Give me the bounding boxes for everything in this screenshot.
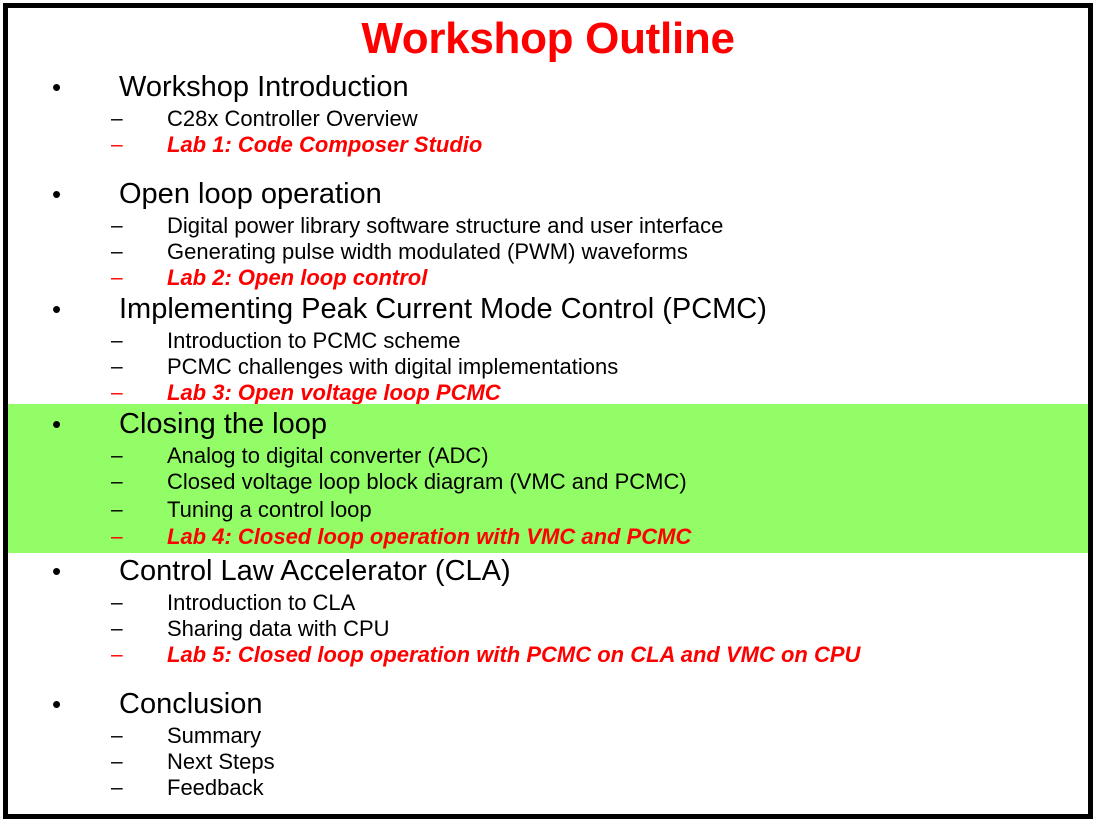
dash-icon: – xyxy=(111,239,123,265)
page-title: Workshop Outline xyxy=(8,13,1088,65)
dash-icon: – xyxy=(111,775,123,801)
dash-icon: – xyxy=(111,106,123,132)
outline-item: –Digital power library software structur… xyxy=(8,213,1088,239)
outline-lab-item-label: Lab 4: Closed loop operation with VMC an… xyxy=(167,524,691,550)
dash-icon: – xyxy=(111,616,123,642)
outline-lab-item: –Lab 5: Closed loop operation with PCMC … xyxy=(8,642,1088,668)
outline-item: –Introduction to CLA xyxy=(8,590,1088,616)
bullet-icon: • xyxy=(52,176,61,213)
dash-icon: – xyxy=(111,590,123,616)
outline-item: –Tuning a control loop xyxy=(8,495,1088,524)
outline-item-label: Introduction to CLA xyxy=(167,590,355,616)
outline-item: –Generating pulse width modulated (PWM) … xyxy=(8,239,1088,265)
outline-section-heading-label: Open loop operation xyxy=(119,176,382,213)
outline-section-heading: •Closing the loop xyxy=(8,406,1088,443)
outline-lab-item-label: Lab 1: Code Composer Studio xyxy=(167,132,482,158)
outline-section: •Control Law Accelerator (CLA)–Introduct… xyxy=(8,553,1088,668)
outline-item-label: PCMC challenges with digital implementat… xyxy=(167,354,618,380)
outline-item: –Closed voltage loop block diagram (VMC … xyxy=(8,469,1088,495)
outline-item: –Feedback xyxy=(8,775,1088,801)
dash-icon: – xyxy=(111,328,123,354)
bullet-icon: • xyxy=(52,553,61,590)
bullet-icon: • xyxy=(52,291,61,328)
outline-section-heading: •Open loop operation xyxy=(8,176,1088,213)
dash-icon: – xyxy=(111,265,123,291)
dash-icon: – xyxy=(111,469,123,495)
outline-section-heading: •Conclusion xyxy=(8,686,1088,723)
dash-icon: – xyxy=(111,642,123,668)
outline-section: •Conclusion–Summary–Next Steps–Feedback xyxy=(8,686,1088,801)
dash-icon: – xyxy=(111,380,123,406)
outline-item-label: Tuning a control loop xyxy=(167,495,372,524)
outline-lab-item-label: Lab 2: Open loop control xyxy=(167,265,427,291)
slide-frame: Workshop Outline •Workshop Introduction–… xyxy=(3,3,1093,819)
outline-section-heading: •Implementing Peak Current Mode Control … xyxy=(8,291,1088,328)
outline-item-label: Introduction to PCMC scheme xyxy=(167,328,460,354)
dash-icon: – xyxy=(111,443,123,469)
outline-item: –Introduction to PCMC scheme xyxy=(8,328,1088,354)
outline-section: •Open loop operation–Digital power libra… xyxy=(8,176,1088,291)
outline-item-label: Closed voltage loop block diagram (VMC a… xyxy=(167,469,687,495)
outline-section-heading-label: Conclusion xyxy=(119,686,262,723)
outline-section-heading: •Control Law Accelerator (CLA) xyxy=(8,553,1088,590)
dash-icon: – xyxy=(111,749,123,775)
dash-icon: – xyxy=(111,354,123,380)
outline-item: –Analog to digital converter (ADC) xyxy=(8,443,1088,469)
outline-item-label: Generating pulse width modulated (PWM) w… xyxy=(167,239,688,265)
outline-lab-item-label: Lab 5: Closed loop operation with PCMC o… xyxy=(167,642,860,668)
outline-section: •Workshop Introduction–C28x Controller O… xyxy=(8,69,1088,158)
outline-item-label: Summary xyxy=(167,723,261,749)
dash-icon: – xyxy=(111,132,123,158)
dash-icon: – xyxy=(111,723,123,749)
outline-item-label: Next Steps xyxy=(167,749,275,775)
outline-item: –Summary xyxy=(8,723,1088,749)
outline-section-heading-label: Workshop Introduction xyxy=(119,69,409,106)
outline-section-heading-label: Control Law Accelerator (CLA) xyxy=(119,553,511,590)
outline-lab-item: –Lab 1: Code Composer Studio xyxy=(8,132,1088,158)
dash-icon: – xyxy=(111,213,123,239)
outline-lab-item: –Lab 2: Open loop control xyxy=(8,265,1088,291)
outline-list: •Workshop Introduction–C28x Controller O… xyxy=(8,69,1088,801)
outline-section-heading-label: Implementing Peak Current Mode Control (… xyxy=(119,291,767,328)
bullet-icon: • xyxy=(52,406,61,443)
outline-lab-item: –Lab 4: Closed loop operation with VMC a… xyxy=(8,524,1088,550)
outline-item: –Next Steps xyxy=(8,749,1088,775)
outline-item-label: Feedback xyxy=(167,775,264,801)
outline-section: •Closing the loop–Analog to digital conv… xyxy=(8,404,1088,553)
outline-item: –C28x Controller Overview xyxy=(8,106,1088,132)
outline-item-label: C28x Controller Overview xyxy=(167,106,418,132)
outline-item: –PCMC challenges with digital implementa… xyxy=(8,354,1088,380)
outline-section-heading: •Workshop Introduction xyxy=(8,69,1088,106)
outline-lab-item-label: Lab 3: Open voltage loop PCMC xyxy=(167,380,501,406)
outline-lab-item: –Lab 3: Open voltage loop PCMC xyxy=(8,380,1088,406)
dash-icon: – xyxy=(111,495,123,524)
outline-section-heading-label: Closing the loop xyxy=(119,406,327,443)
bullet-icon: • xyxy=(52,686,61,723)
outline-item-label: Analog to digital converter (ADC) xyxy=(167,443,489,469)
outline-item: –Sharing data with CPU xyxy=(8,616,1088,642)
outline-section: •Implementing Peak Current Mode Control … xyxy=(8,291,1088,406)
outline-item-label: Sharing data with CPU xyxy=(167,616,390,642)
dash-icon: – xyxy=(111,524,123,550)
outline-item-label: Digital power library software structure… xyxy=(167,213,723,239)
bullet-icon: • xyxy=(52,69,61,106)
